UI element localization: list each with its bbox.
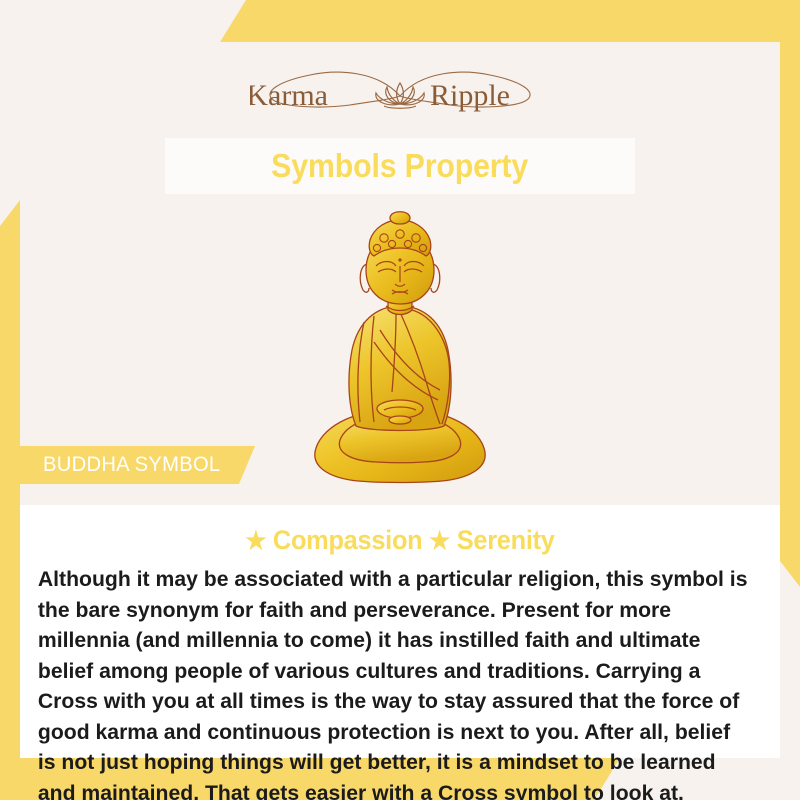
- infinity-flourish-icon: Karma Ripple: [250, 63, 550, 129]
- star-icon-two: ★: [429, 527, 450, 555]
- page-title: Symbols Property: [272, 147, 529, 185]
- symbol-ribbon-label: BUDDHA SYMBOL: [20, 453, 220, 477]
- attributes-tagline: ★ Compassion ★ Serenity: [52, 525, 748, 556]
- title-band: Symbols Property: [165, 138, 635, 194]
- attribute-one: Compassion: [273, 525, 422, 555]
- decor-border-right: [780, 42, 800, 587]
- decor-corner-top-right: [220, 0, 800, 42]
- brand-name-left: Karma: [250, 79, 328, 112]
- symbol-ribbon: BUDDHA SYMBOL: [20, 446, 255, 484]
- seated-buddha-icon: [300, 210, 500, 500]
- poster-card: Karma Ripple Symbols Property: [20, 42, 780, 758]
- star-icon-one: ★: [245, 527, 266, 555]
- poster-canvas: Karma Ripple Symbols Property: [0, 0, 800, 800]
- description-text: Although it may be associated with a par…: [30, 564, 759, 800]
- description-panel: ★ Compassion ★ Serenity Although it may …: [20, 505, 780, 758]
- attribute-two: Serenity: [457, 525, 555, 555]
- brand-logo: Karma Ripple: [20, 60, 780, 132]
- brand-name-right: Ripple: [430, 79, 510, 112]
- decor-border-left: [0, 200, 20, 760]
